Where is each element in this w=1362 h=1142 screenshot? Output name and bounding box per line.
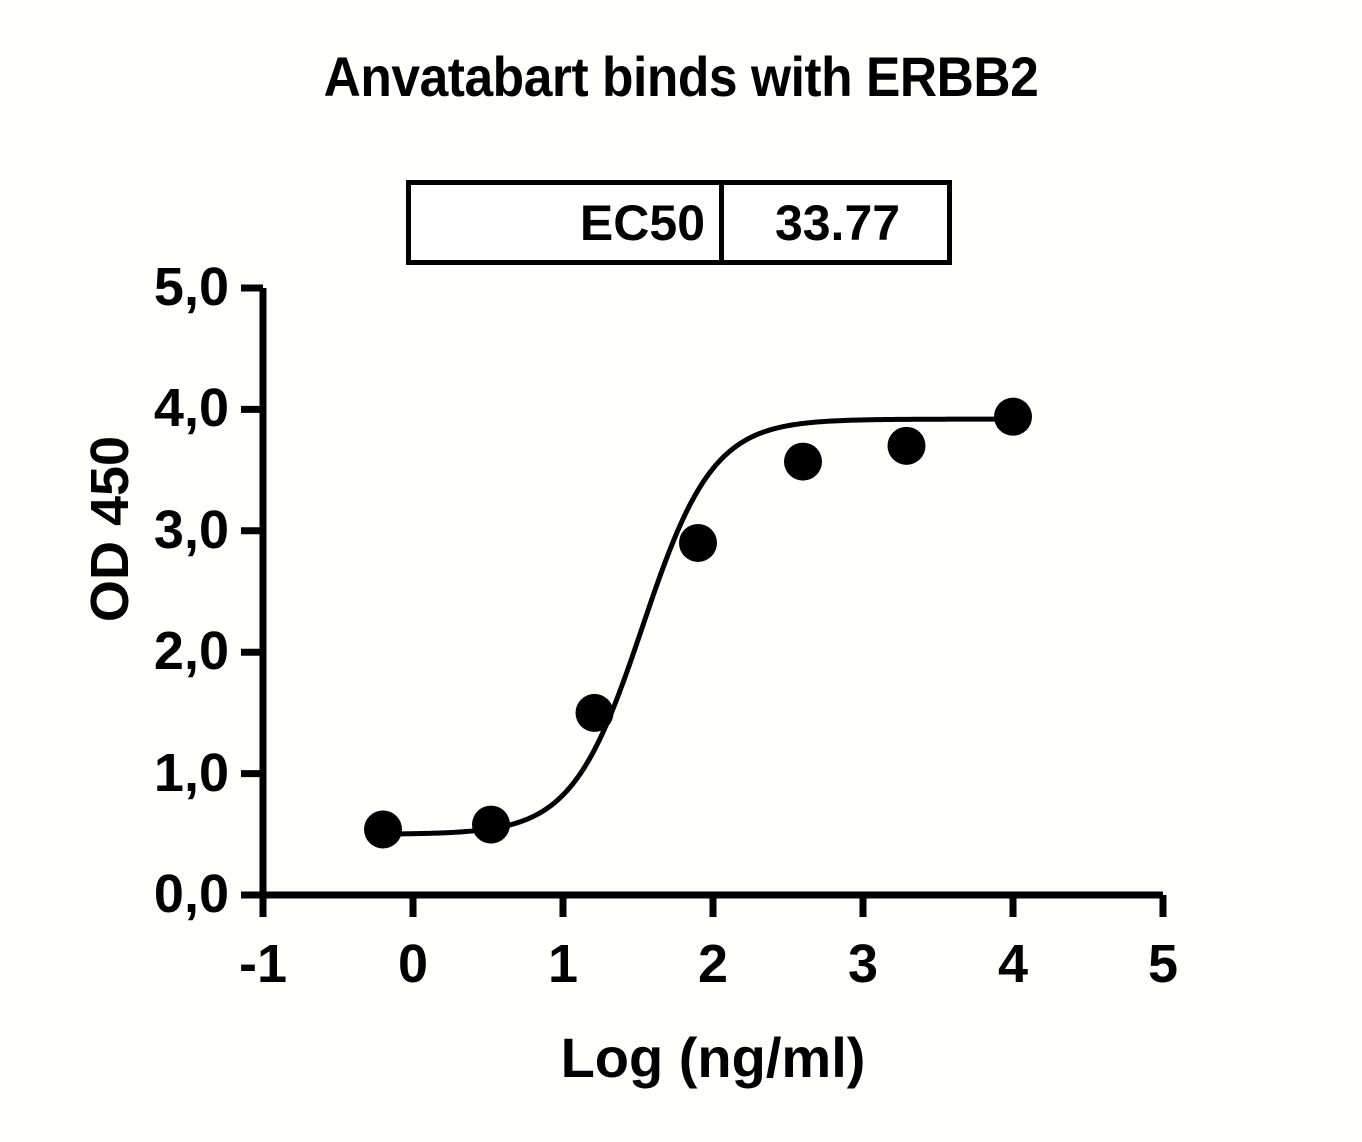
y-tick-label: 5,0 [79, 260, 229, 314]
data-point-marker [576, 694, 614, 732]
x-tick-label: 1 [523, 937, 603, 991]
chart-figure: Anvatabart binds with ERBB2 EC50 33.77 0… [0, 0, 1362, 1142]
x-tick-label: 4 [973, 937, 1053, 991]
x-axis-title: Log (ng/ml) [263, 1028, 1163, 1088]
y-tick-label: 1,0 [79, 746, 229, 800]
x-tick-label: 2 [673, 937, 753, 991]
data-point-marker [784, 443, 822, 481]
x-tick-label: 0 [373, 937, 453, 991]
fit-curve [383, 419, 1013, 834]
data-point-marker [679, 524, 717, 562]
data-point-marker [888, 427, 926, 465]
y-tick-label: 0,0 [79, 867, 229, 921]
x-tick-label: 3 [823, 937, 903, 991]
x-tick-label: 5 [1123, 937, 1203, 991]
data-point-marker [994, 398, 1032, 436]
x-tick-label: -1 [223, 937, 303, 991]
data-points [364, 398, 1032, 849]
y-axis-title: OD 450 [81, 359, 139, 699]
data-point-marker [364, 810, 402, 848]
data-point-marker [472, 806, 510, 844]
